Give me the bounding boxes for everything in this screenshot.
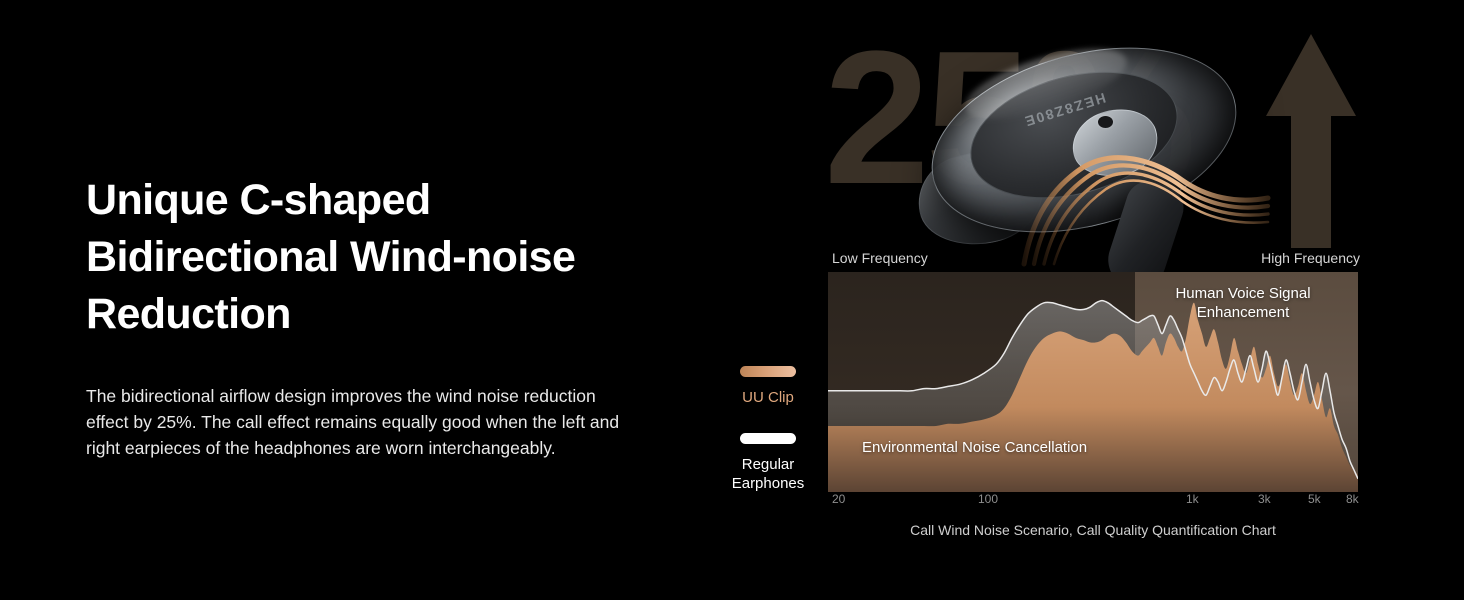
axis-label-low-frequency: Low Frequency: [832, 250, 928, 266]
page-title: Unique C-shaped Bidirectional Wind-noise…: [86, 172, 686, 343]
body-paragraph: The bidirectional airflow design improve…: [86, 383, 626, 461]
x-tick-8k: 8k: [1346, 492, 1359, 506]
annotation-human-voice-enhancement: Human Voice Signal Enhancement: [1133, 284, 1353, 322]
x-axis-ticks: 201001k3k5k8k: [828, 492, 1358, 514]
watermark-group: 25%: [828, 26, 1360, 256]
promo-banner: Unique C-shaped Bidirectional Wind-noise…: [0, 0, 1464, 600]
x-tick-1k: 1k: [1186, 492, 1199, 506]
spectrum-chart: Environmental Noise Cancellation Human V…: [828, 272, 1358, 492]
regular-earphones-swatch-icon: [740, 433, 796, 444]
x-tick-3k: 3k: [1258, 492, 1271, 506]
up-arrow-icon: [1265, 30, 1357, 250]
chart-legend: UU Clip Regular Earphones: [716, 366, 820, 519]
watermark-percent-text: 25%: [828, 26, 1192, 218]
uu-clip-swatch-icon: [740, 366, 796, 377]
x-tick-20: 20: [832, 492, 845, 506]
axis-label-high-frequency: High Frequency: [1261, 250, 1360, 266]
annotation-environmental-noise-cancellation: Environmental Noise Cancellation: [862, 438, 1087, 457]
chart-caption: Call Wind Noise Scenario, Call Quality Q…: [828, 522, 1358, 538]
x-tick-100: 100: [978, 492, 998, 506]
legend-item-regular-earphones: Regular Earphones: [716, 433, 820, 493]
legend-label-regular-earphones: Regular Earphones: [716, 455, 820, 493]
chart-panel: 25% HEZ8Z80E: [828, 0, 1360, 600]
legend-item-uu-clip: UU Clip: [716, 366, 820, 407]
legend-label-uu-clip: UU Clip: [716, 388, 820, 407]
frequency-axis-headers: Low Frequency High Frequency: [828, 250, 1360, 270]
x-tick-5k: 5k: [1308, 492, 1321, 506]
copy-block: Unique C-shaped Bidirectional Wind-noise…: [86, 172, 686, 461]
